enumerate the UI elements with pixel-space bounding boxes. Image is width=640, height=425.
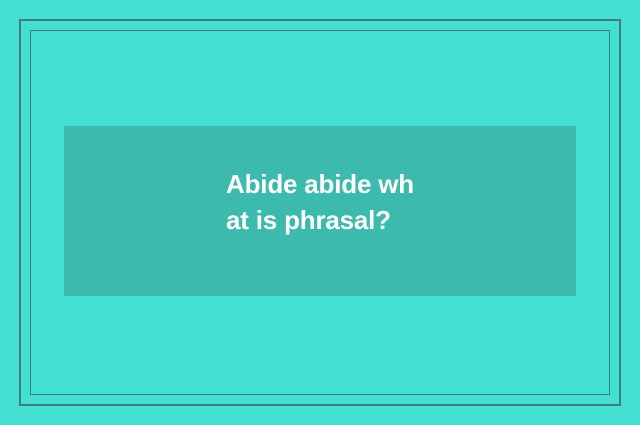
quote-line-1: Abide abide wh bbox=[226, 166, 414, 202]
quote-text-block: Abide abide wh at is phrasal? bbox=[226, 166, 414, 238]
quote-card-canvas: Abide abide wh at is phrasal? bbox=[0, 0, 640, 425]
quote-line-2: at is phrasal? bbox=[226, 202, 414, 238]
quote-panel: Abide abide wh at is phrasal? bbox=[64, 126, 576, 296]
